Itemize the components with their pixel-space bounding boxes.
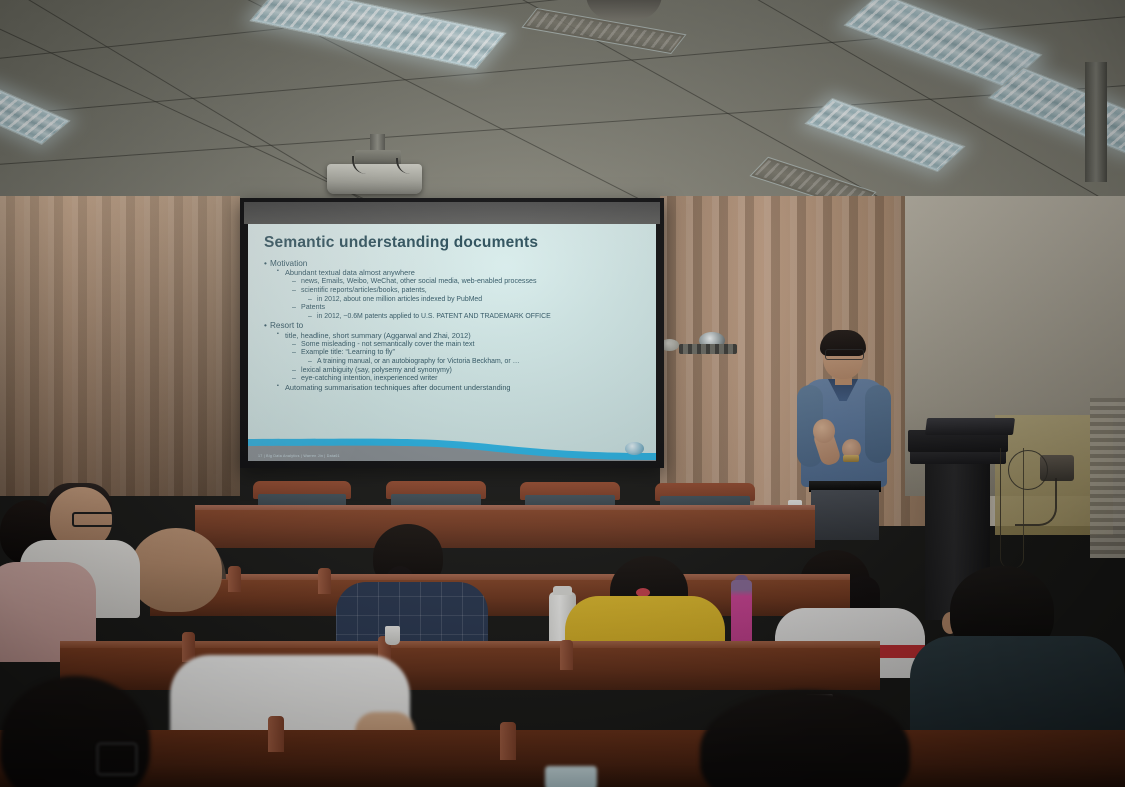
ceiling bbox=[0, 0, 1125, 215]
projector-ports bbox=[679, 344, 737, 354]
ceiling-pipe bbox=[1085, 62, 1107, 182]
eyeglasses-icon bbox=[825, 349, 864, 360]
balding-man-head bbox=[130, 528, 222, 612]
ceiling-duct-fixture bbox=[586, 0, 662, 20]
blurred-foreground-attendee-right bbox=[700, 690, 910, 787]
bench-post bbox=[228, 566, 241, 592]
ceiling-light-fixture bbox=[249, 0, 507, 69]
thermos-cap bbox=[553, 586, 572, 595]
bench-post bbox=[500, 722, 516, 760]
eyeglasses-icon bbox=[96, 742, 138, 776]
front-desk bbox=[195, 510, 815, 548]
hanging-cables bbox=[1000, 448, 1024, 568]
ceiling-light-fixture bbox=[804, 98, 965, 173]
presenter-trousers bbox=[811, 490, 879, 540]
lectern-monitor bbox=[925, 418, 1015, 435]
paper-cup bbox=[385, 626, 400, 645]
bench-post bbox=[268, 716, 284, 752]
screen-glare bbox=[248, 224, 656, 461]
projected-slide: Semantic understanding documents Motivat… bbox=[248, 224, 656, 461]
eyeglasses-icon bbox=[72, 512, 114, 527]
wristwatch bbox=[843, 455, 859, 462]
projection-screen-top-band bbox=[244, 202, 660, 224]
ceiling-light-fixture bbox=[0, 85, 71, 145]
bench-post bbox=[560, 640, 573, 670]
presenter-hand-gesture bbox=[813, 419, 835, 443]
wall-vent-grill bbox=[1090, 398, 1125, 558]
presenter-right-sleeve bbox=[865, 385, 891, 463]
lecture-hall-photo: Semantic understanding documents Motivat… bbox=[0, 0, 1125, 787]
blurred-cup bbox=[545, 766, 597, 787]
curtain-left-shading bbox=[0, 196, 240, 496]
bench-post bbox=[318, 568, 331, 594]
